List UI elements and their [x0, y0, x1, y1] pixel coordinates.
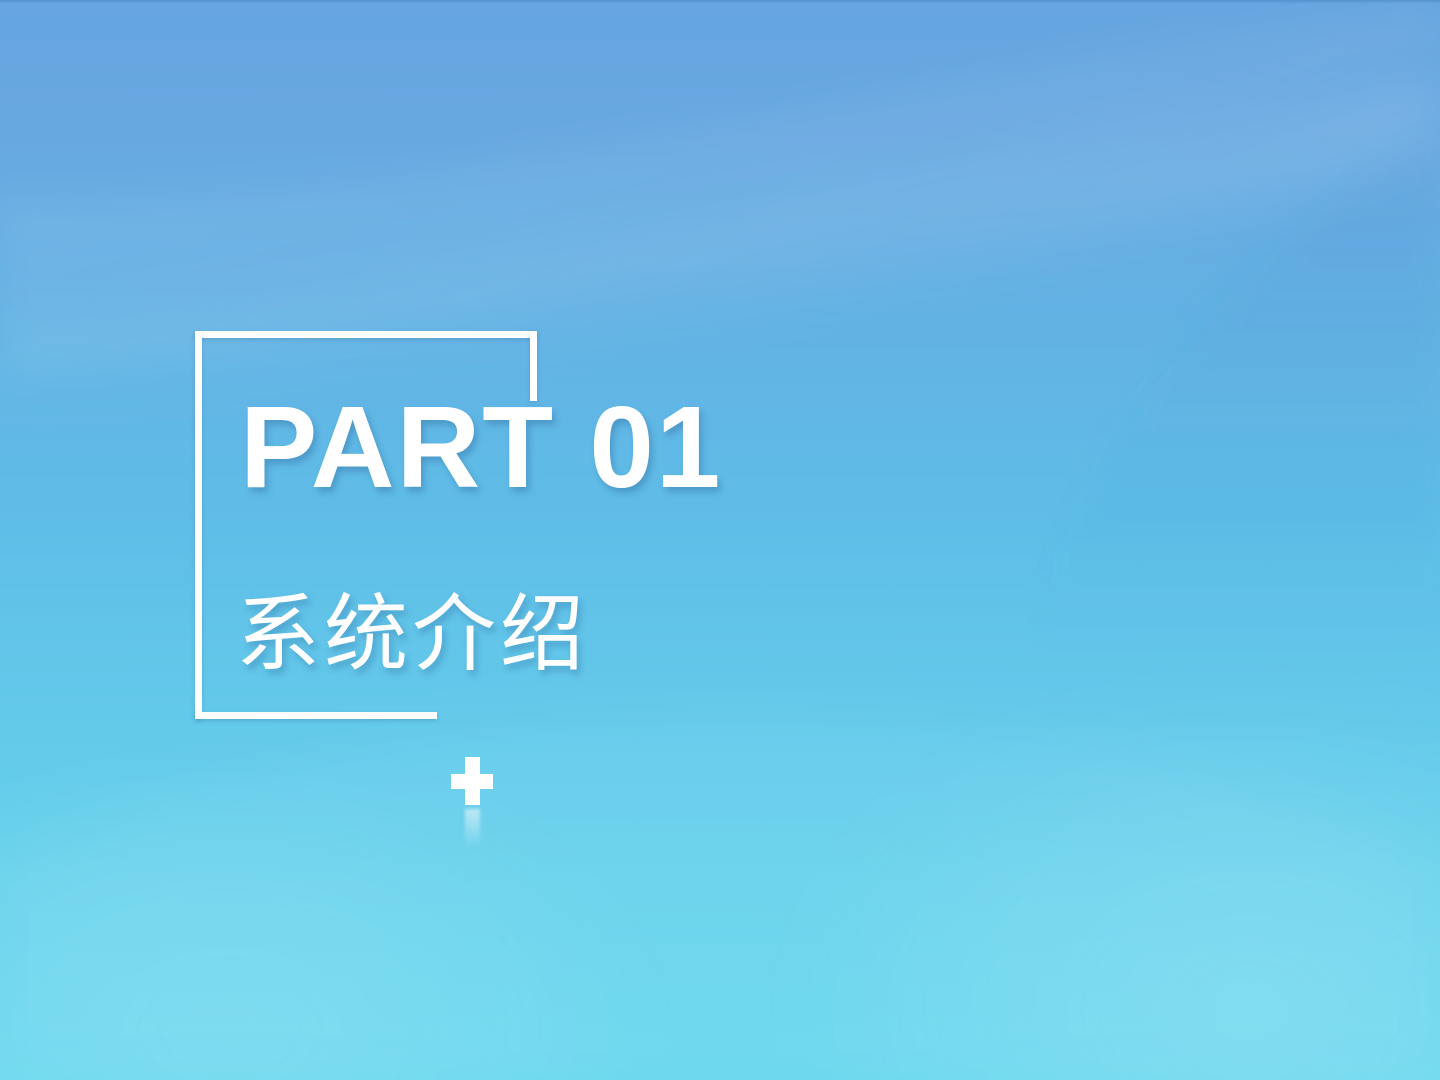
section-subtitle: 系统介绍 — [236, 592, 588, 676]
wave-bottom-crest — [0, 710, 1440, 1080]
plus-ornament — [451, 757, 493, 847]
wave-top-right-arc — [1030, 120, 1440, 660]
section-number-title: PART 01 — [240, 389, 722, 505]
plus-icon — [451, 757, 493, 805]
wave-bottom-left-ellipse — [0, 760, 660, 1080]
frame-bottom-border — [195, 712, 437, 719]
wave-upper-sweep — [0, 0, 1440, 380]
frame-top-border — [195, 331, 537, 338]
frame-left-border — [195, 331, 202, 719]
plus-icon-vertical-bar — [465, 757, 480, 805]
top-edge-band — [0, 0, 1440, 4]
plus-icon-reflection — [465, 809, 480, 847]
presentation-slide: PART 01 系统介绍 — [0, 0, 1440, 1080]
wave-bottom-right-dome — [780, 680, 1440, 1080]
